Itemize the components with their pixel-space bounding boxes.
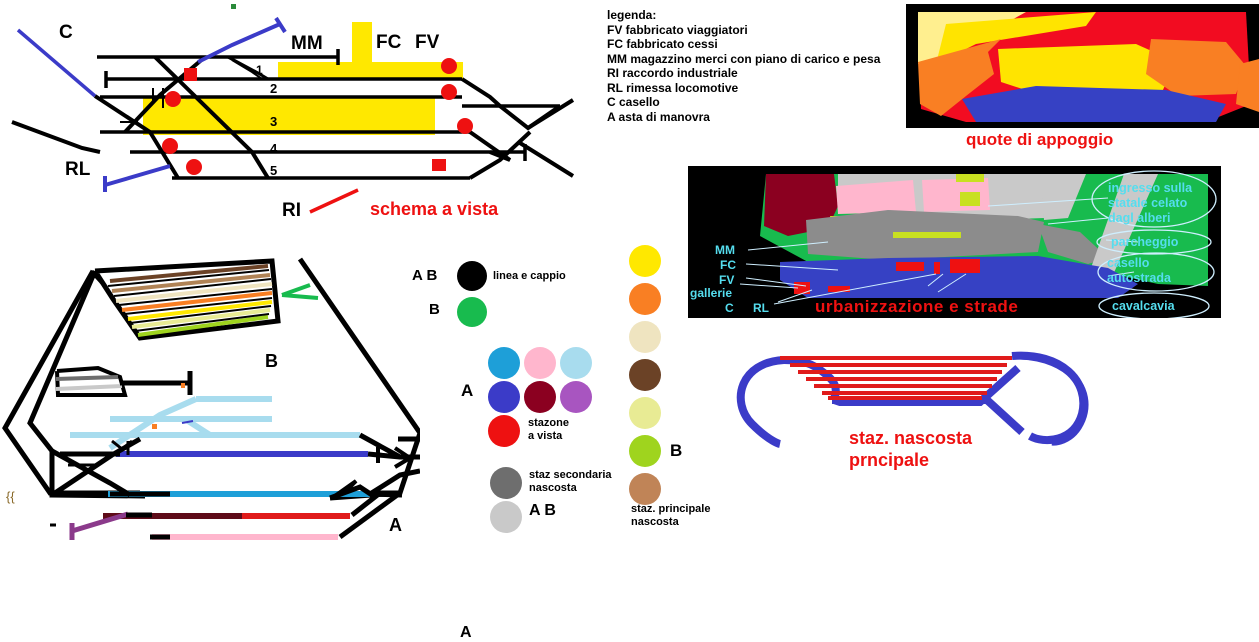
legenda-entry-4: RL rimessa locomotive — [607, 81, 897, 96]
callout-ingresso: ingresso sulla statale celato dagl alber… — [1108, 181, 1192, 226]
urban-lime-spot-2 — [960, 192, 980, 206]
hidden-station-caption-line1: staz. nascosta — [849, 428, 972, 449]
urbanizzazione-panel: MM FC FV gallerie C RL ingresso sulla st… — [688, 166, 1221, 318]
hidden-station-caption-line2: prncipale — [849, 450, 929, 471]
platform-fv-top — [278, 62, 463, 79]
plan-diagram-panel: {{ B A — [0, 243, 420, 549]
loop-left — [741, 360, 784, 444]
platform-mm — [143, 96, 435, 135]
swatch-linea-b-verde — [457, 297, 487, 327]
label-RI: RI — [282, 200, 301, 222]
swatch-principale-orange — [629, 283, 661, 315]
purple-spur — [72, 514, 128, 531]
legend-zone-B-principale: B — [670, 441, 682, 461]
legenda-entry-1: FC fabbricato cessi — [607, 37, 897, 52]
plan-secondary-station-group — [56, 368, 190, 395]
swatch-stazione-purple — [560, 381, 592, 413]
throat-right-tail — [520, 143, 573, 176]
ri-pointer — [310, 190, 358, 212]
marker-circle-5 — [441, 84, 457, 100]
swatch-principale-yellow — [629, 245, 661, 277]
stray-glyph: {{ — [6, 489, 15, 504]
secondary-station-frame — [57, 368, 125, 395]
label-FC: FC — [376, 32, 401, 54]
secondary-track-darkgray — [56, 377, 118, 379]
urban-lime-strip — [893, 232, 961, 238]
plan-hidden-station-group — [85, 261, 318, 338]
callout-cavalcavia: cavalcavia — [1112, 299, 1175, 313]
plan-zone-label-B: B — [265, 351, 278, 372]
callout-casello: casello autostrada — [1107, 256, 1171, 286]
plan-zone-label-A: A — [389, 515, 402, 536]
swatch-principale-yellowgreen — [629, 435, 661, 467]
hidden-main-station-svg — [722, 332, 1122, 522]
marker-square-left — [184, 68, 197, 81]
throat-right-fan — [528, 100, 573, 128]
marker-circle-6 — [457, 118, 473, 134]
marker-square-right — [432, 159, 446, 171]
loop-right-inner — [1020, 356, 1085, 442]
swatch-principale-cream — [629, 321, 661, 353]
swatch-secondaria-lightgray — [490, 501, 522, 533]
legenda-entry-5: C casello — [607, 95, 897, 110]
secondary-track-lightgray — [56, 386, 122, 389]
swatch-principale-paleyellow — [629, 397, 661, 429]
track-number-3: 3 — [270, 114, 277, 129]
legenda-heading: legenda: — [607, 8, 897, 23]
legend-zone-A-label: A — [461, 381, 473, 401]
marker-circle-2 — [162, 138, 178, 154]
schema-a-vista-panel: C RL RI MM FC FV 1 2 3 4 5 schema a vist… — [0, 0, 575, 235]
callout-parcheggio: parcheggio — [1111, 235, 1178, 249]
legenda-entry-2: MM magazzino merci con piano di carico e… — [607, 52, 897, 67]
track-number-4: 4 — [270, 141, 277, 156]
quote-map-caption: quote di appoggio — [966, 130, 1113, 150]
urbanizzazione-caption: urbanizzazione e strade — [815, 297, 1018, 317]
urban-red-building-5 — [828, 286, 850, 292]
legend-zone-A-stazione: A — [460, 624, 472, 642]
legenda-panel: legenda: FV fabbricato viaggiatori FC fa… — [607, 8, 897, 138]
platform-fc-stem — [352, 22, 372, 62]
label-RL: RL — [65, 159, 90, 181]
swatch-stazione-pink — [524, 347, 556, 379]
green-dot-marker — [231, 4, 236, 9]
schema-a-vista-caption: schema a vista — [370, 199, 498, 220]
legenda-entry-3: RI raccordo industriale — [607, 66, 897, 81]
track-number-5: 5 — [270, 163, 277, 178]
legend-label-staz-principale: staz. principale nascosta — [631, 503, 710, 529]
legend-label-linea-e-cappio: linea e cappio — [493, 270, 566, 283]
track-number-1: 1 — [256, 63, 263, 77]
quote-di-appoggio-panel: quote di appoggio — [906, 4, 1259, 128]
swatch-principale-brown — [629, 359, 661, 391]
marker-circle-1 — [165, 91, 181, 107]
swatch-stazione-lightblue — [560, 347, 592, 379]
quote-map-svg — [906, 4, 1259, 128]
legend-label-staz-secondaria: staz secondaria nascosta — [529, 469, 612, 495]
swatch-principale-tan — [629, 473, 661, 505]
label-MM: MM — [291, 33, 323, 55]
legend-zone-AB-secondaria: A B — [529, 502, 556, 520]
swatch-stazione-red — [488, 415, 520, 447]
urban-lime-spot-1 — [956, 174, 984, 182]
urban-pink-block-1 — [836, 180, 916, 214]
plan-diagram-svg: {{ — [0, 243, 420, 549]
label-FV: FV — [415, 32, 439, 54]
swatch-linea-e-cappio — [457, 261, 487, 291]
urban-red-building-3 — [950, 259, 980, 273]
swatch-secondaria-darkgray — [490, 467, 522, 499]
throat-left-diag — [12, 122, 100, 152]
swatch-stazione-cyanblue — [488, 347, 520, 379]
stray-orange-dot-2 — [152, 424, 157, 429]
stray-orange-dot-1 — [181, 383, 185, 388]
color-legend-panel: A B linea e cappio B A A stazone a vista… — [405, 255, 745, 545]
throat-right-upper — [462, 79, 500, 106]
urban-red-building-2 — [934, 262, 940, 274]
legend-zone-B-verde: B — [429, 301, 440, 318]
swatch-stazione-darkred — [524, 381, 556, 413]
track-number-2: 2 — [270, 81, 277, 96]
urban-label-RL: RL — [753, 301, 769, 315]
swatch-stazione-royalblue — [488, 381, 520, 413]
branch-c-line — [18, 30, 95, 96]
staz-nascosta-principale-panel: staz. nascosta prncipale — [722, 332, 1122, 522]
urban-red-building-1 — [896, 262, 924, 271]
legenda-entry-6: A asta di manovra — [607, 110, 897, 125]
label-C: C — [59, 22, 73, 44]
hidden-station-green-link2 — [282, 295, 318, 298]
marker-circle-4 — [441, 58, 457, 74]
marker-circle-3 — [186, 159, 202, 175]
legend-zone-AB-linea: A B — [412, 267, 437, 284]
legenda-entry-0: FV fabbricato viaggiatori — [607, 23, 897, 38]
branch-rl-line — [105, 166, 170, 185]
legend-label-stazione-a-vista: stazone a vista — [528, 417, 569, 443]
